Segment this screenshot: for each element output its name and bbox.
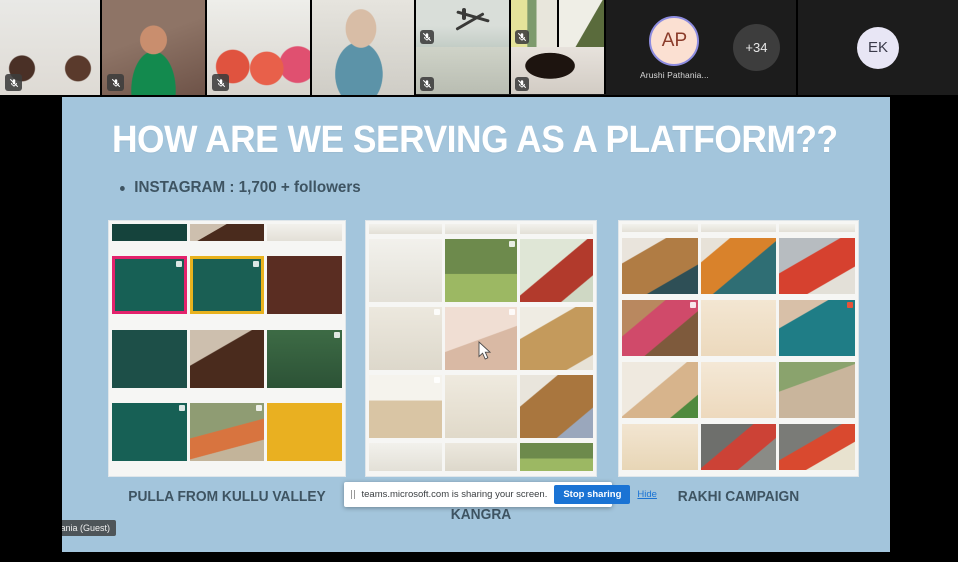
screen-share-notification-bar: teams.microsoft.com is sharing your scre… [344, 482, 612, 507]
video-tile-3[interactable] [207, 0, 312, 95]
bullet-dot-icon [120, 186, 125, 191]
mic-off-icon [5, 74, 22, 91]
avatar-initials-ek[interactable]: EK [857, 27, 899, 69]
video-tile-1[interactable] [0, 0, 102, 95]
share-message: teams.microsoft.com is sharing your scre… [362, 489, 548, 500]
mic-off-icon [107, 74, 124, 91]
avatar-name-label: Arushi Pathania... [640, 70, 709, 80]
avatar-active-speaker[interactable]: AP Arushi Pathania... [640, 16, 709, 80]
video-tile-group-right [511, 0, 606, 94]
video-tile-2[interactable] [102, 0, 207, 95]
video-tile-9[interactable] [511, 47, 606, 94]
avatar-group: AP Arushi Pathania... +34 [616, 0, 780, 95]
avatar-self-zone: EK [798, 0, 958, 95]
mic-off-icon [212, 74, 229, 91]
panel-pulla: PULLA FROM KULLU VALLEY [108, 220, 346, 477]
screen-share-view: AP Arushi Pathania... +34 EK HOW ARE WE … [0, 0, 958, 562]
avatar-overflow-count[interactable]: +34 [733, 24, 780, 71]
instagram-grid-1[interactable] [108, 220, 346, 477]
panel-caption-3: RAKHI CAMPAIGN [624, 488, 853, 506]
mic-off-icon [420, 77, 434, 91]
mic-off-icon [515, 30, 529, 44]
stop-sharing-button[interactable]: Stop sharing [554, 485, 630, 504]
avatar-initials-ap: AP [649, 16, 699, 66]
presenter-name-badge: Arushi Pathania (Guest) [62, 520, 116, 536]
video-tile-8[interactable] [416, 47, 511, 94]
panel-rakhi: RAKHI CAMPAIGN [618, 220, 859, 477]
mic-off-icon [515, 77, 529, 91]
video-tile-group-left [416, 0, 511, 94]
slide-bullet-text: INSTAGRAM : 1,700 + followers [134, 179, 361, 197]
video-tile-6[interactable] [511, 0, 559, 47]
mic-off-icon [420, 30, 434, 44]
slide-bullet-item: INSTAGRAM : 1,700 + followers [120, 179, 361, 197]
instagram-grid-3[interactable] [618, 220, 859, 477]
slide-title: HOW ARE WE SERVING AS A PLATFORM?? [112, 119, 838, 162]
drag-handle-icon[interactable] [351, 490, 355, 499]
panel-caption-1: PULLA FROM KULLU VALLEY [114, 488, 340, 506]
hide-bar-link[interactable]: Hide [637, 489, 657, 500]
mouse-cursor [478, 341, 492, 360]
video-tile-4[interactable] [312, 0, 416, 95]
video-tile-7[interactable] [559, 0, 606, 47]
video-tile-5[interactable] [416, 0, 511, 47]
